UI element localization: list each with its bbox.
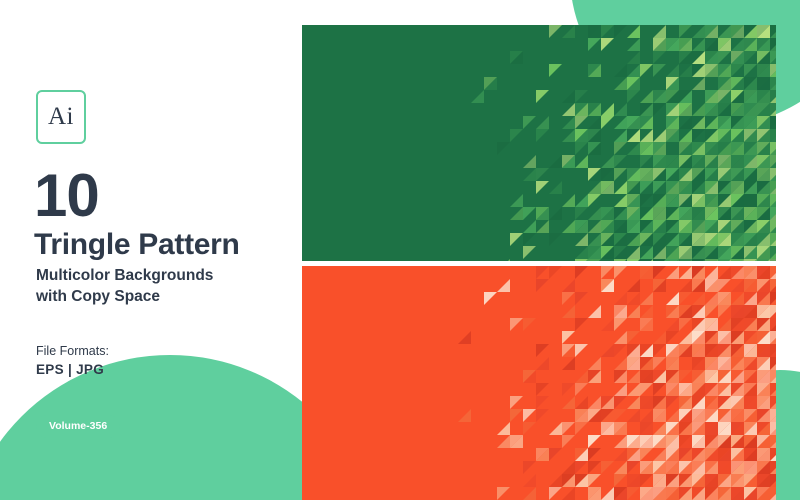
poster-canvas: Ai 10 Tringle Pattern Multicolor Backgro… xyxy=(0,0,800,500)
file-formats-value: EPS | JPG xyxy=(36,362,104,377)
preview-green-triangle-pattern xyxy=(302,25,776,261)
volume-badge: Volume-356 xyxy=(36,415,120,438)
page-subtitle: Multicolor Backgroundswith Copy Space xyxy=(36,266,286,307)
preview-orange-triangle-pattern xyxy=(302,266,776,500)
green-pattern-art xyxy=(302,25,776,261)
page-title: Tringle Pattern xyxy=(34,228,240,261)
orange-pattern-art xyxy=(302,266,776,500)
info-panel: Ai 10 Tringle Pattern Multicolor Backgro… xyxy=(0,0,300,500)
item-count: 10 xyxy=(34,166,99,226)
adobe-illustrator-badge: Ai xyxy=(36,90,86,144)
file-formats-label: File Formats: xyxy=(36,344,109,358)
